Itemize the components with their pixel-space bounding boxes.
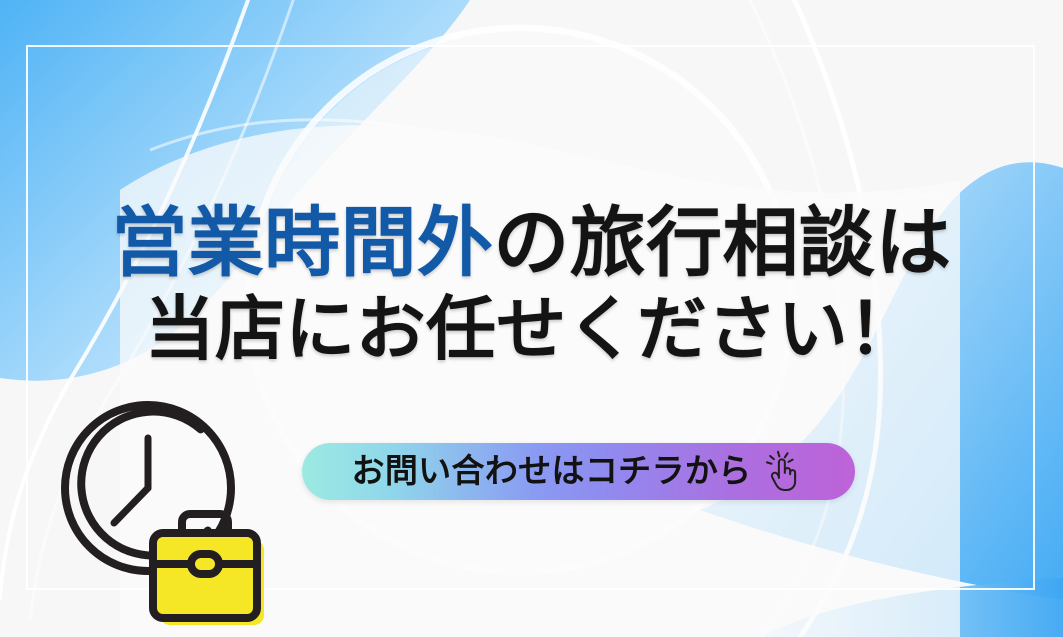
- contact-cta-label: お問い合わせはコチラから: [352, 454, 752, 489]
- promo-banner: 営業時間外の旅行相談は 当店にお任せください！ お問い合わせはコチラから: [0, 0, 1063, 637]
- page-title: 営業時間外の旅行相談は 当店にお任せください！: [0, 206, 1063, 364]
- headline-line-1-rest: の旅行相談は: [493, 201, 951, 286]
- briefcase-icon: [153, 514, 264, 625]
- headline-accent: 営業時間外: [111, 201, 493, 286]
- contact-cta-button[interactable]: お問い合わせはコチラから: [302, 443, 855, 500]
- headline-line-1: 営業時間外の旅行相談は: [0, 206, 1063, 282]
- clock-briefcase-icon-group: [58, 398, 283, 637]
- tap-hand-icon: [761, 450, 805, 494]
- headline-line-2: 当店にお任せください！: [0, 294, 1063, 364]
- clock-icon: [58, 398, 283, 637]
